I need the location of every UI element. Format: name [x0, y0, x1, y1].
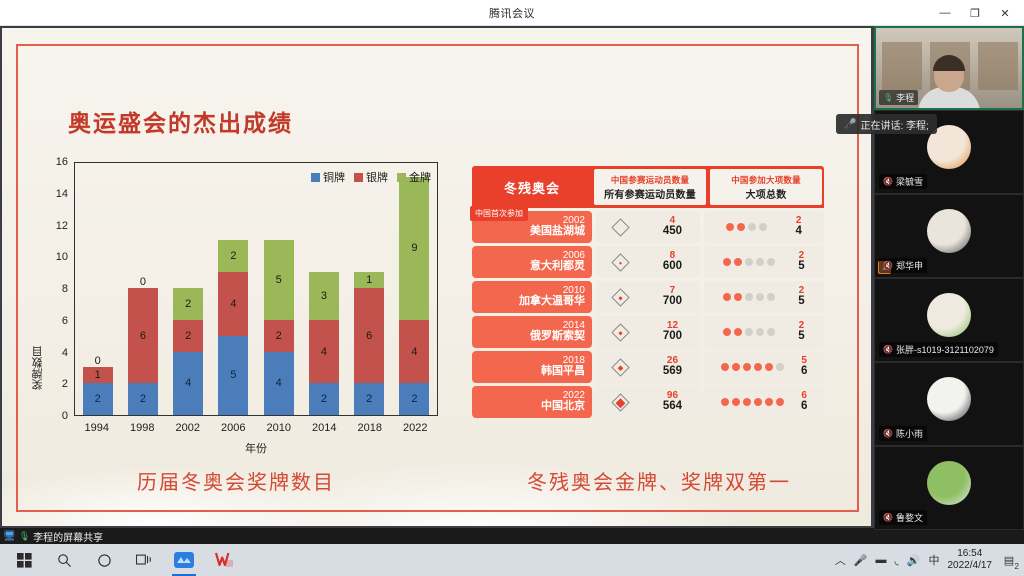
chart-x-tick: 2018	[355, 422, 385, 434]
meeting-body: 奥运盛会的杰出成绩 奖牌数目 0246810121416 铜牌银牌金牌 0120…	[0, 26, 1024, 528]
chart-y-tick: 4	[62, 347, 68, 359]
dot-indicator	[732, 398, 740, 406]
table-cell-athlete-fraction: 96564	[663, 391, 682, 413]
chart-bar-segment: 5	[264, 240, 294, 319]
legend-swatch	[354, 173, 363, 182]
chart-bar-column: 342	[309, 163, 339, 415]
chart-legend-item: 银牌	[354, 169, 388, 185]
dot-gauge	[721, 363, 784, 371]
windows-taskbar[interactable]: ︿ 🎤 ▬ ◟ 🔊 中 16:54 2022/4/17 ▤ 2	[0, 544, 1024, 576]
dot-indicator	[767, 293, 775, 301]
microphone-muted-icon: 🔇	[883, 177, 893, 186]
chart-y-tick: 14	[56, 188, 68, 200]
table-cell-city: 中国北京	[541, 401, 585, 413]
close-button[interactable]: ✕	[990, 1, 1020, 25]
table-cell-event: 2018韩国平昌	[472, 351, 592, 383]
chart-y-tick: 16	[56, 156, 68, 168]
table-cell-city: 韩国平昌	[541, 366, 585, 378]
screen-share-bar[interactable]: 🖥 🎙 李程的屏幕共享	[0, 528, 109, 544]
events-all: 6	[801, 366, 807, 378]
chart-bar-segment: 2	[128, 383, 158, 415]
chart-bar-column: 062	[128, 163, 158, 415]
dot-indicator	[723, 258, 731, 266]
table-cell-athletes: 26569	[596, 351, 700, 383]
dot-indicator	[745, 258, 753, 266]
presentation-slide: 奥运盛会的杰出成绩 奖牌数目 0246810121416 铜牌银牌金牌 0120…	[2, 28, 871, 526]
chart-bar-segment: 4	[218, 272, 248, 336]
chart-y-axis-label: 奖牌数目	[30, 346, 46, 390]
search-icon[interactable]	[44, 544, 84, 576]
chart-legend-item: 金牌	[397, 169, 431, 185]
chart-bar-segment: 2	[399, 383, 429, 415]
paralympics-table: 冬残奥会 中国参赛运动员数量 所有参赛运动员数量 中国参加大项数量 大项总数 中…	[472, 166, 824, 418]
microphone-muted-icon: 🔇	[883, 513, 893, 522]
dot-gauge	[721, 398, 784, 406]
shared-screen-area[interactable]: 奥运盛会的杰出成绩 奖牌数目 0246810121416 铜牌银牌金牌 0120…	[0, 26, 874, 528]
table-cell-events: 56	[704, 351, 824, 383]
dot-indicator	[737, 223, 745, 231]
legend-label: 金牌	[409, 169, 431, 185]
participant-name-label: 🔇陈小雨	[879, 426, 927, 441]
table-row: 2018韩国平昌2656956	[472, 351, 824, 383]
dot-indicator	[743, 398, 751, 406]
chart-bar-segment: 3	[309, 272, 339, 320]
table-cell-event-fraction: 25	[798, 286, 804, 308]
chart-plot-area: 铜牌银牌金牌 012062224245524342162942	[74, 162, 438, 416]
microphone-icon[interactable]: 🎤	[854, 554, 868, 567]
diamond-icon	[611, 323, 629, 341]
chart-legend: 铜牌银牌金牌	[311, 169, 431, 185]
chart-bar-segment: 1	[83, 367, 113, 383]
athletes-all: 450	[663, 226, 682, 238]
table-cell-event-fraction: 25	[798, 321, 804, 343]
legend-label: 铜牌	[323, 169, 345, 185]
notification-count: 2	[1015, 562, 1019, 571]
dot-indicator	[767, 328, 775, 336]
chart-bar-segment: 1	[354, 272, 384, 288]
dot-indicator	[723, 328, 731, 336]
table-cell-athlete-fraction: 7700	[663, 286, 682, 308]
participant-name-text: 李程	[896, 91, 914, 104]
dot-indicator	[756, 293, 764, 301]
diamond-icon	[611, 288, 629, 306]
table-header-events-all: 大项总数	[746, 186, 787, 201]
minimize-button[interactable]: —	[930, 1, 960, 25]
table-header-athletes-all: 所有参赛运动员数量	[604, 186, 696, 201]
participant-tile[interactable]: 🎙李程	[874, 26, 1024, 110]
table-cell-event: 2006意大利都灵	[472, 246, 592, 278]
participant-rail[interactable]: 🎙李程🔇梁毓雪▲🔇郑华申🔇张胖-s1019-3121102079🔇陈小雨🔇鲁婺文	[874, 26, 1024, 528]
window-controls: — ❐ ✕	[930, 0, 1020, 26]
chart-x-tick: 2010	[264, 422, 294, 434]
dot-indicator	[776, 398, 784, 406]
chart-bar-segment: 2	[218, 240, 248, 272]
participant-name-text: 陈小雨	[896, 427, 923, 440]
chart-x-ticks: 19941998200220062010201420182022	[74, 422, 438, 434]
chart-y-tick: 10	[56, 251, 68, 263]
table-cell-city: 美国盐湖城	[530, 226, 585, 238]
table-row: 2022中国北京9656466	[472, 386, 824, 418]
wifi-icon[interactable]: ◟	[895, 554, 899, 567]
chart-bar-segment: 4	[264, 352, 294, 416]
table-cell-athlete-fraction: 4450	[663, 216, 682, 238]
chart-bar-segment: 2	[173, 320, 203, 352]
chart-bar-column: 012	[83, 163, 113, 415]
dot-indicator	[732, 363, 740, 371]
table-cell-athletes: 12700	[596, 316, 700, 348]
table-cell-city: 意大利都灵	[530, 261, 585, 273]
table-cell-events: 66	[704, 386, 824, 418]
chart-bar-column: 942	[399, 163, 429, 415]
task-view-icon[interactable]	[124, 544, 164, 576]
bookshelf-decor	[882, 42, 922, 90]
dot-indicator	[767, 258, 775, 266]
window-title: 腾讯会议	[489, 5, 535, 21]
table-cell-event: 2014俄罗斯索契	[472, 316, 592, 348]
taskbar-app-wps[interactable]	[204, 544, 244, 576]
chart-y-ticks: 0246810121416	[46, 156, 72, 410]
participant-name-text: 鲁婺文	[896, 511, 923, 524]
chart-y-tick: 12	[56, 220, 68, 232]
table-header-events: 中国参加大项数量 大项总数	[710, 169, 822, 205]
table-row: 2014俄罗斯索契1270025	[472, 316, 824, 348]
table-cell-events: 25	[704, 246, 824, 278]
chart-x-axis-label: 年份	[74, 440, 438, 456]
clock-date: 2022/4/17	[948, 560, 993, 572]
dot-indicator	[756, 258, 764, 266]
chart-bars: 012062224245524342162942	[75, 163, 437, 415]
chart-x-tick: 2006	[218, 422, 248, 434]
participant-name-text: 梁毓雪	[896, 175, 923, 188]
table-cell-athletes: 7700	[596, 281, 700, 313]
athletes-all: 700	[663, 296, 682, 308]
chart-x-tick: 2022	[400, 422, 430, 434]
dot-indicator	[756, 328, 764, 336]
table-row: 2010加拿大温哥华770025	[472, 281, 824, 313]
chart-bar-segment: 5	[218, 336, 248, 415]
table-body: 2002美国盐湖城4450242006意大利都灵8600252010加拿大温哥华…	[472, 211, 824, 418]
diamond-icon	[611, 218, 629, 236]
chart-bar-segment: 2	[309, 383, 339, 415]
participant-tile[interactable]: ▲🔇郑华申	[874, 194, 1024, 278]
speaking-indicator: 🎤 正在讲话: 李程;	[836, 114, 937, 134]
events-all: 4	[795, 226, 801, 238]
dot-indicator	[745, 293, 753, 301]
caption-chart: 历届冬奥会奖牌数目	[137, 466, 335, 495]
window-titlebar: 腾讯会议 — ❐ ✕	[0, 0, 1024, 26]
avatar	[927, 461, 971, 505]
chart-bar-segment: 6	[354, 288, 384, 383]
chart-bar-segment: 2	[354, 383, 384, 415]
dot-indicator	[723, 293, 731, 301]
dot-indicator	[726, 223, 734, 231]
table-cell-events: 25	[704, 316, 824, 348]
screen-share-label: 李程的屏幕共享	[33, 529, 103, 544]
table-cell-city: 俄罗斯索契	[530, 331, 585, 343]
chart-bar-column: 524	[264, 163, 294, 415]
chart-bar-segment: 9	[399, 177, 429, 320]
table-header-event: 冬残奥会	[472, 166, 592, 208]
participant-name-text: 郑华申	[896, 259, 923, 272]
ime-icon[interactable]: 中	[929, 552, 940, 568]
slide-title: 奥运盛会的杰出成绩	[68, 104, 293, 138]
microphone-muted-icon: 🔇	[883, 261, 893, 270]
diamond-icon	[611, 358, 629, 376]
participant-tile[interactable]: 🔇陈小雨	[874, 362, 1024, 446]
table-cell-events: 25	[704, 281, 824, 313]
table-cell-city: 加拿大温哥华	[519, 296, 585, 308]
chart-bar-column: 245	[218, 163, 248, 415]
chart-x-tick: 1998	[127, 422, 157, 434]
dot-gauge	[723, 293, 775, 301]
dot-indicator	[734, 328, 742, 336]
clock-time: 16:54	[948, 548, 993, 560]
table-cell-athlete-fraction: 26569	[663, 356, 682, 378]
dot-indicator	[759, 223, 767, 231]
taskbar-app-tencent-meeting[interactable]	[164, 544, 204, 576]
monitor-icon: 🖥	[3, 531, 16, 542]
table-cell-event-fraction: 25	[798, 251, 804, 273]
dot-gauge	[726, 223, 767, 231]
table-header-athletes-cn: 中国参赛运动员数量	[611, 174, 689, 186]
tencent-meeting-window: 腾讯会议 — ❐ ✕ 奥运盛会的杰出成绩 奖牌数目 0246810121416 …	[0, 0, 1024, 576]
table-cell-athletes: 8600	[596, 246, 700, 278]
chart-bar-segment: 6	[128, 288, 158, 383]
chevron-up-icon[interactable]: ︿	[835, 552, 846, 568]
dot-indicator	[754, 363, 762, 371]
athletes-all: 564	[663, 401, 682, 413]
avatar	[927, 377, 971, 421]
chart-bar-segment: 2	[264, 320, 294, 352]
table-cell-event-fraction: 24	[795, 216, 801, 238]
chart-bar-column: 224	[173, 163, 203, 415]
taskbar-clock[interactable]: 16:54 2022/4/17	[948, 548, 993, 572]
chart-bar-zero-label: 0	[128, 276, 158, 288]
chart-legend-item: 铜牌	[311, 169, 345, 185]
dot-gauge	[723, 328, 775, 336]
chart-y-tick: 6	[62, 315, 68, 327]
taskbar-left	[0, 544, 244, 576]
dot-indicator	[754, 398, 762, 406]
diamond-icon	[611, 253, 629, 271]
legend-label: 银牌	[366, 169, 388, 185]
maximize-button[interactable]: ❐	[960, 1, 990, 25]
avatar	[927, 293, 971, 337]
table-cell-athlete-fraction: 12700	[663, 321, 682, 343]
cortana-circle-icon[interactable]	[84, 544, 124, 576]
microphone-icon: 🎤	[844, 119, 856, 130]
avatar	[927, 209, 971, 253]
chart-y-tick: 2	[62, 378, 68, 390]
volume-icon[interactable]: 🔊	[907, 554, 921, 567]
chart-x-tick: 1994	[82, 422, 112, 434]
table-header-row: 冬残奥会 中国参赛运动员数量 所有参赛运动员数量 中国参加大项数量 大项总数 中…	[472, 166, 824, 208]
table-cell-athletes: 96564	[596, 386, 700, 418]
chart-x-tick: 2014	[309, 422, 339, 434]
chart-bar-zero-label: 0	[83, 355, 113, 367]
table-header-athletes: 中国参赛运动员数量 所有参赛运动员数量	[594, 169, 706, 205]
legend-swatch	[397, 173, 406, 182]
bookshelf-decor	[978, 42, 1018, 90]
participant-name-label: 🔇郑华申	[879, 258, 927, 273]
events-all: 5	[798, 331, 804, 343]
notifications-icon[interactable]: ▤ 2	[1000, 551, 1018, 569]
chart-bar-column: 162	[354, 163, 384, 415]
participant-name-label: 🔇梁毓雪	[879, 174, 927, 189]
table-cell-event: 2010加拿大温哥华	[472, 281, 592, 313]
caption-table: 冬残奥会金牌、奖牌双第一	[527, 466, 791, 495]
events-all: 5	[798, 296, 804, 308]
medal-bar-chart: 奖牌数目 0246810121416 铜牌银牌金牌 01206222424552…	[32, 156, 452, 456]
dot-indicator	[721, 398, 729, 406]
taskbar-tray: ︿ 🎤 ▬ ◟ 🔊 中 16:54 2022/4/17 ▤ 2	[835, 548, 1024, 572]
athletes-all: 700	[663, 331, 682, 343]
diamond-icon	[611, 393, 629, 411]
battery-icon[interactable]: ▬	[876, 554, 887, 566]
participant-tile[interactable]: 🔇鲁婺文	[874, 446, 1024, 530]
chart-bar-segment: 2	[83, 383, 113, 415]
athletes-all: 569	[663, 366, 682, 378]
table-cell-athletes: 4450	[596, 211, 700, 243]
table-cell-events: 24	[704, 211, 824, 243]
participant-name-label: 🔇鲁婺文	[879, 510, 927, 525]
dot-indicator	[765, 363, 773, 371]
microphone-icon: 🎙	[883, 93, 893, 102]
events-all: 6	[801, 401, 807, 413]
table-cell-athlete-fraction: 8600	[663, 251, 682, 273]
microphone-muted-icon: 🔇	[883, 429, 893, 438]
chart-bar-segment: 4	[173, 352, 203, 416]
participant-name-label: 🎙李程	[879, 90, 918, 105]
first-participation-badge: 中国首次参加	[470, 206, 528, 221]
participant-name-text: 张胖-s1019-3121102079	[896, 343, 994, 356]
speaking-indicator-label: 正在讲话: 李程;	[860, 117, 928, 132]
participant-tile[interactable]: 🔇张胖-s1019-3121102079	[874, 278, 1024, 362]
microphone-muted-icon: 🔇	[883, 345, 893, 354]
dot-indicator	[734, 293, 742, 301]
dot-indicator	[745, 328, 753, 336]
table-row: 2006意大利都灵860025	[472, 246, 824, 278]
chart-y-tick: 8	[62, 283, 68, 295]
dot-gauge	[723, 258, 775, 266]
table-cell-event-fraction: 56	[801, 356, 807, 378]
dot-indicator	[743, 363, 751, 371]
dot-indicator	[734, 258, 742, 266]
table-cell-event-fraction: 66	[801, 391, 807, 413]
dot-indicator	[721, 363, 729, 371]
chart-bar-segment: 4	[399, 320, 429, 384]
table-header-events-cn: 中国参加大项数量	[731, 174, 801, 186]
dot-indicator	[776, 363, 784, 371]
windows-start-icon[interactable]	[4, 544, 44, 576]
chart-y-tick: 0	[62, 410, 68, 422]
chart-bar-segment: 2	[173, 288, 203, 320]
dot-indicator	[748, 223, 756, 231]
chart-x-tick: 2002	[173, 422, 203, 434]
athletes-all: 600	[663, 261, 682, 273]
legend-swatch	[311, 173, 320, 182]
microphone-icon: 🎙	[19, 531, 30, 542]
table-cell-event: 2022中国北京	[472, 386, 592, 418]
participant-name-label: 🔇张胖-s1019-3121102079	[879, 342, 998, 357]
events-all: 5	[798, 261, 804, 273]
dot-indicator	[765, 398, 773, 406]
chart-bar-segment: 4	[309, 320, 339, 384]
